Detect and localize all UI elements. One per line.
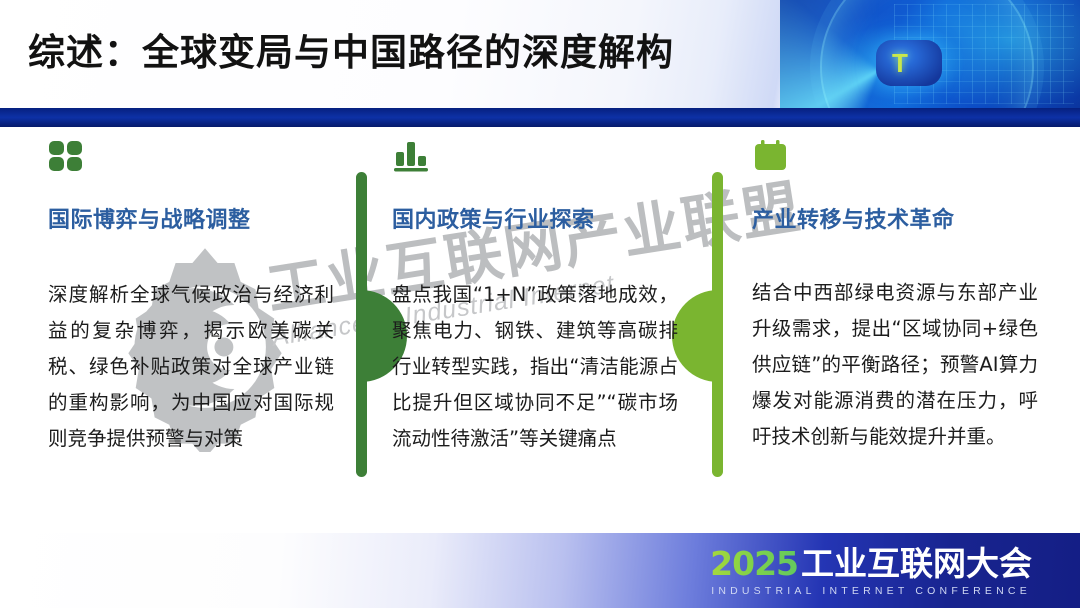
column-1-heading: 国际博弈与战略调整 [48,202,251,234]
conference-name-en: INDUSTRIAL INTERNET CONFERENCE [710,585,1032,597]
header-tech-graphic: T [780,0,1080,108]
logo-letter: T [892,50,908,76]
circuit-grid-icon [894,4,1074,104]
header-blue-band [0,108,1080,127]
column-3-heading: 产业转移与技术革命 [752,202,955,234]
conference-logo-main: 2025 工业互联网大会 [710,547,1032,580]
column-2-heading: 国内政策与行业探索 [392,202,595,234]
briefcase-icon [752,139,790,173]
chip-icon [876,40,942,86]
column-1-body: 深度解析全球气候政治与经济利益的复杂博弈，揭示欧美碳关税、绿色补贴政策对全球产业… [48,277,334,457]
bar-chart-icon [392,139,430,173]
conference-logo: 2025 工业互联网大会 INDUSTRIAL INTERNET CONFERE… [710,547,1032,597]
slide-root: T 综述：全球变局与中国路径的深度解构 工业互联网产业联盟 Alliance o… [0,0,1080,608]
four-squares-icon [48,139,86,173]
conference-year: 2025 [710,547,798,580]
column-3-body: 结合中西部绿电资源与东部产业升级需求，提出“区域协同+绿色供应链”的平衡路径；预… [752,275,1038,455]
slide-footer: 2025 工业互联网大会 INDUSTRIAL INTERNET CONFERE… [0,533,1080,608]
slide-body: 工业互联网产业联盟 Alliance of Industrial Interne… [0,127,1080,533]
column-2-body: 盘点我国“1+N”政策落地成效，聚焦电力、钢铁、建筑等高碳排行业转型实践，指出“… [392,277,678,457]
content-columns: 国际博弈与战略调整 深度解析全球气候政治与经济利益的复杂博弈，揭示欧美碳关税、绿… [0,127,1080,533]
slide-header: T 综述：全球变局与中国路径的深度解构 [0,0,1080,127]
conference-name-cn: 工业互联网大会 [801,547,1032,580]
page-title: 综述：全球变局与中国路径的深度解构 [28,22,674,76]
